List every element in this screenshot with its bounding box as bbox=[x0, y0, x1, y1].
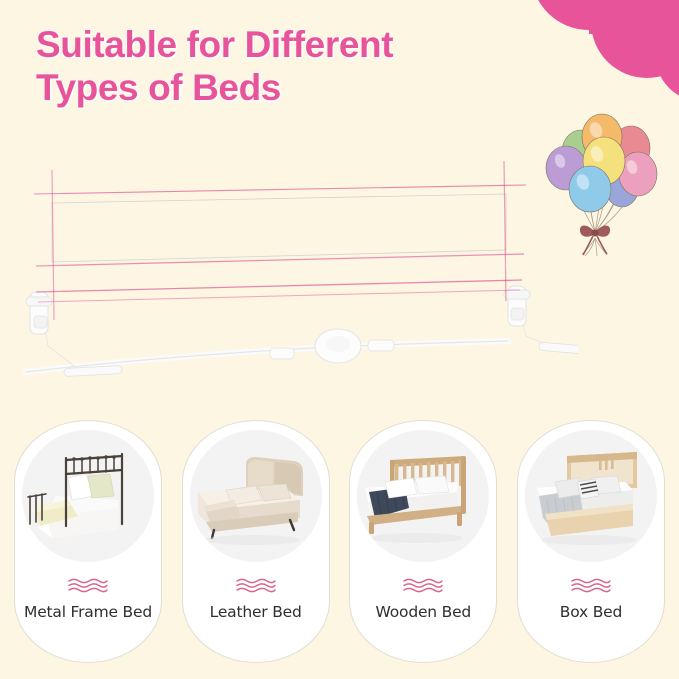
bed-type-label: Box Bed bbox=[554, 603, 628, 622]
infographic-canvas: Suitable for Different Types of Beds bbox=[0, 0, 679, 679]
box-bed-photo bbox=[525, 430, 657, 562]
page-title: Suitable for Different Types of Beds bbox=[36, 23, 506, 110]
support-bar-hub bbox=[270, 329, 394, 363]
bed-rail-guard-image bbox=[8, 150, 578, 398]
metal-frame-bed-photo bbox=[22, 430, 154, 562]
wavy-divider-icon bbox=[234, 577, 278, 594]
bed-type-card-box-bed[interactable]: Box Bed bbox=[517, 420, 665, 663]
bed-type-label: Leather Bed bbox=[204, 603, 308, 622]
bed-type-card-row: Metal Frame Bed bbox=[0, 420, 679, 668]
wavy-divider-icon bbox=[66, 577, 110, 594]
bed-type-card-metal-frame-bed[interactable]: Metal Frame Bed bbox=[14, 420, 162, 663]
wavy-divider-icon bbox=[569, 577, 613, 594]
rail-fabric-panel bbox=[32, 160, 526, 322]
wavy-divider-icon bbox=[401, 577, 445, 594]
bed-type-card-wooden-bed[interactable]: Wooden Bed bbox=[349, 420, 497, 663]
cloud-blob-icon bbox=[477, 0, 679, 114]
bed-type-card-leather-bed[interactable]: Leather Bed bbox=[182, 420, 330, 663]
leather-bed-photo bbox=[190, 430, 322, 562]
bed-type-label: Metal Frame Bed bbox=[18, 603, 158, 622]
bed-type-label: Wooden Bed bbox=[370, 603, 478, 622]
wooden-bed-photo bbox=[357, 430, 489, 562]
